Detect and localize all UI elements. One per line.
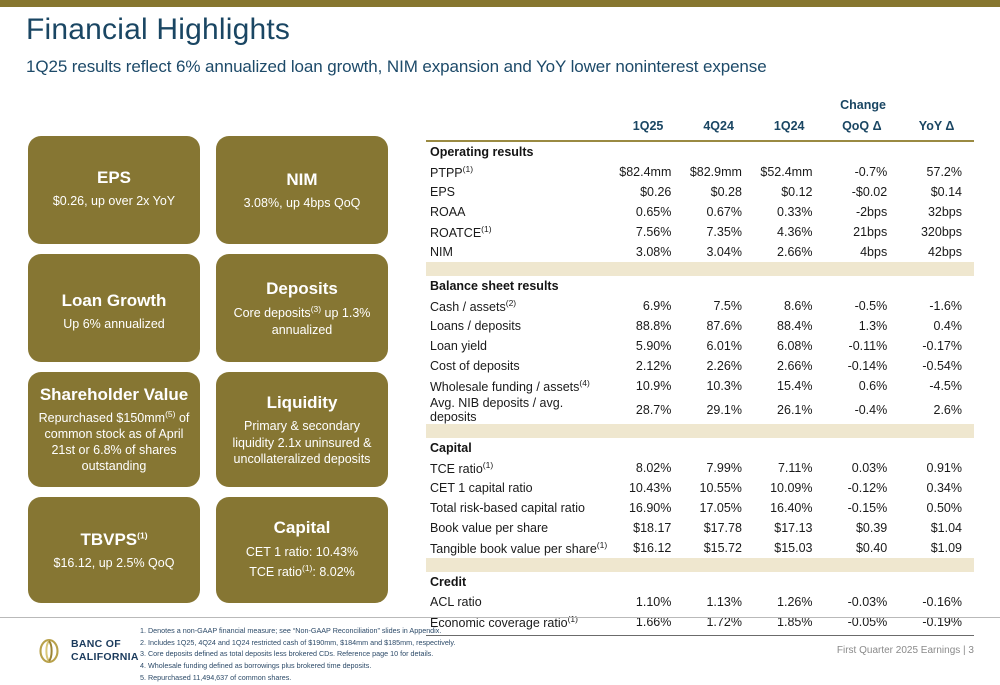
table-section-header: Credit — [426, 572, 974, 592]
card-tbvps-heading: TBVPS(1) — [80, 529, 147, 550]
table-section-header: Balance sheet results — [426, 276, 974, 296]
table-row: Loan yield5.90%6.01%6.08%-0.11%-0.17% — [426, 336, 974, 356]
row-value-1q25: 10.43% — [613, 478, 684, 498]
row-value-qoq: -0.4% — [825, 396, 900, 424]
section-spacer-cell — [683, 438, 754, 458]
change-group-header: Change — [752, 98, 974, 112]
section-spacer-cell — [754, 572, 825, 592]
row-value-4q24: 2.26% — [683, 356, 754, 376]
row-value-1q25: 16.90% — [613, 498, 684, 518]
card-tbvps-footnote-ref: (1) — [137, 530, 147, 540]
row-value-1q24: 4.36% — [754, 222, 825, 242]
table-section-header: Capital — [426, 438, 974, 458]
table-row: Economic coverage ratio(1)1.66%1.72%1.85… — [426, 612, 974, 632]
row-label: ROAA — [426, 202, 613, 222]
row-value-4q24: 1.72% — [683, 612, 754, 632]
row-value-1q24: $17.13 — [754, 518, 825, 538]
card-nim-heading: NIM — [286, 169, 317, 190]
row-value-1q24: $15.03 — [754, 538, 825, 558]
row-label: Book value per share — [426, 518, 613, 538]
row-value-yoy: 57.2% — [899, 162, 974, 182]
row-value-1q25: $18.17 — [613, 518, 684, 538]
section-spacer-cell — [825, 572, 900, 592]
row-value-4q24: $0.28 — [683, 182, 754, 202]
row-value-1q24: 26.1% — [754, 396, 825, 424]
row-value-yoy: $1.09 — [899, 538, 974, 558]
table-row: Loans / deposits88.8%87.6%88.4%1.3%0.4% — [426, 316, 974, 336]
section-spacer-cell — [683, 276, 754, 296]
row-value-1q25: $16.12 — [613, 538, 684, 558]
table-row: Tangible book value per share(1)$16.12$1… — [426, 538, 974, 558]
section-spacer-cell — [899, 141, 974, 162]
row-label-text: NIM — [430, 245, 453, 259]
row-footnote-ref: (1) — [568, 614, 578, 624]
card-capital-line-2: TCE ratio(1): 8.02% — [249, 562, 355, 581]
row-label-text: ACL ratio — [430, 595, 482, 609]
row-value-4q24: 3.04% — [683, 242, 754, 262]
card-deposits-body-pre: Core deposits — [234, 306, 311, 320]
table-row: EPS$0.26$0.28$0.12-$0.02$0.14 — [426, 182, 974, 202]
card-nim[interactable]: NIM 3.08%, up 4bps QoQ — [216, 136, 388, 244]
table-section-band — [426, 424, 974, 438]
row-label-text: Loan yield — [430, 339, 487, 353]
column-header-qoq: QoQ Δ — [825, 116, 900, 136]
row-value-qoq: -$0.02 — [825, 182, 900, 202]
row-label: Avg. NIB deposits / avg. deposits — [426, 396, 613, 424]
row-value-yoy: -1.6% — [899, 296, 974, 316]
section-spacer-cell — [899, 438, 974, 458]
row-label-text: PTPP — [430, 166, 463, 180]
row-label-text: TCE ratio — [430, 462, 483, 476]
table-row: ROATCE(1)7.56%7.35%4.36%21bps320bps — [426, 222, 974, 242]
row-value-qoq: 0.03% — [825, 458, 900, 478]
section-spacer-cell — [825, 141, 900, 162]
metrics-table-body: 1Q254Q241Q24QoQ ΔYoY ΔOperating resultsP… — [426, 116, 974, 636]
section-spacer-cell — [754, 141, 825, 162]
row-value-1q25: $82.4mm — [613, 162, 684, 182]
row-value-4q24: 17.05% — [683, 498, 754, 518]
row-value-1q24: 2.66% — [754, 242, 825, 262]
card-tbvps-body: $16.12, up 2.5% QoQ — [54, 555, 175, 571]
row-label: Loans / deposits — [426, 316, 613, 336]
table-row: Book value per share$18.17$17.78$17.13$0… — [426, 518, 974, 538]
card-row-4: TBVPS(1) $16.12, up 2.5% QoQ Capital CET… — [28, 497, 390, 603]
row-value-qoq: -0.03% — [825, 592, 900, 612]
row-value-yoy: 320bps — [899, 222, 974, 242]
row-value-1q25: 5.90% — [613, 336, 684, 356]
row-value-yoy: -0.54% — [899, 356, 974, 376]
table-row: TCE ratio(1)8.02%7.99%7.11%0.03%0.91% — [426, 458, 974, 478]
table-row: Cash / assets(2)6.9%7.5%8.6%-0.5%-1.6% — [426, 296, 974, 316]
row-value-yoy: 0.50% — [899, 498, 974, 518]
row-value-yoy: $1.04 — [899, 518, 974, 538]
card-liquidity[interactable]: Liquidity Primary & secondary liquidity … — [216, 372, 388, 487]
table-row: Avg. NIB deposits / avg. deposits28.7%29… — [426, 396, 974, 424]
row-value-1q25: 2.12% — [613, 356, 684, 376]
footnote-1: 1. Denotes a non-GAAP financial measure;… — [140, 625, 455, 637]
table-row: NIM3.08%3.04%2.66%4bps42bps — [426, 242, 974, 262]
row-label: Total risk-based capital ratio — [426, 498, 613, 518]
section-spacer-cell — [825, 438, 900, 458]
row-value-yoy: 0.4% — [899, 316, 974, 336]
card-row-3: Shareholder Value Repurchased $150mm(5) … — [28, 372, 390, 487]
row-value-qoq: -0.14% — [825, 356, 900, 376]
card-tbvps-heading-text: TBVPS — [80, 530, 137, 549]
top-accent-bar — [0, 0, 1000, 7]
card-capital[interactable]: Capital CET 1 ratio: 10.43% TCE ratio(1)… — [216, 497, 388, 603]
card-liquidity-heading: Liquidity — [267, 392, 338, 413]
row-value-1q25: 7.56% — [613, 222, 684, 242]
row-footnote-ref: (4) — [579, 378, 589, 388]
row-value-1q24: 15.4% — [754, 376, 825, 396]
row-value-yoy: 0.34% — [899, 478, 974, 498]
row-value-qoq: -0.05% — [825, 612, 900, 632]
section-spacer-cell — [613, 572, 684, 592]
row-value-qoq: -0.11% — [825, 336, 900, 356]
row-value-qoq: $0.39 — [825, 518, 900, 538]
card-eps[interactable]: EPS $0.26, up over 2x YoY — [28, 136, 200, 244]
row-value-1q24: 8.6% — [754, 296, 825, 316]
page-subtitle: 1Q25 results reflect 6% annualized loan … — [26, 57, 767, 77]
card-row-2: Loan Growth Up 6% annualized Deposits Co… — [28, 254, 390, 362]
row-value-qoq: $0.40 — [825, 538, 900, 558]
section-spacer-cell — [683, 141, 754, 162]
row-label-text: Cash / assets — [430, 300, 506, 314]
row-value-qoq: -0.15% — [825, 498, 900, 518]
row-value-1q24: $0.12 — [754, 182, 825, 202]
section-spacer-cell — [754, 438, 825, 458]
row-label: ROATCE(1) — [426, 222, 613, 242]
row-label-text: Wholesale funding / assets — [430, 380, 579, 394]
card-row-1: EPS $0.26, up over 2x YoY NIM 3.08%, up … — [28, 136, 390, 244]
card-capital-heading: Capital — [274, 517, 331, 538]
row-label: Tangible book value per share(1) — [426, 538, 613, 558]
card-shareholder-value[interactable]: Shareholder Value Repurchased $150mm(5) … — [28, 372, 200, 487]
card-liquidity-body: Primary & secondary liquidity 2.1x unins… — [225, 418, 379, 467]
row-value-1q24: 1.85% — [754, 612, 825, 632]
row-footnote-ref: (1) — [483, 460, 493, 470]
row-value-qoq: 21bps — [825, 222, 900, 242]
row-label: Wholesale funding / assets(4) — [426, 376, 613, 396]
row-label-text: Loans / deposits — [430, 319, 521, 333]
banc-of-california-ring-icon — [36, 638, 62, 664]
row-value-1q25: 28.7% — [613, 396, 684, 424]
row-label-text: CET 1 capital ratio — [430, 481, 533, 495]
section-spacer-cell — [683, 572, 754, 592]
row-label: Loan yield — [426, 336, 613, 356]
card-nim-body: 3.08%, up 4bps QoQ — [244, 195, 361, 211]
section-title-credit: Credit — [426, 572, 613, 592]
row-value-4q24: 87.6% — [683, 316, 754, 336]
card-shareholder-value-body-pre: Repurchased $150mm — [39, 411, 165, 425]
row-value-4q24: $15.72 — [683, 538, 754, 558]
column-header-blank — [426, 116, 613, 136]
card-loan-growth-body: Up 6% annualized — [63, 316, 164, 332]
row-value-1q24: 7.11% — [754, 458, 825, 478]
table-row: PTPP(1)$82.4mm$82.9mm$52.4mm-0.7%57.2% — [426, 162, 974, 182]
row-value-yoy: 0.91% — [899, 458, 974, 478]
row-value-4q24: 29.1% — [683, 396, 754, 424]
card-loan-growth-heading: Loan Growth — [62, 290, 167, 311]
section-spacer-cell — [825, 276, 900, 296]
table-row: ROAA0.65%0.67%0.33%-2bps32bps — [426, 202, 974, 222]
row-value-4q24: 6.01% — [683, 336, 754, 356]
card-capital-line-1: CET 1 ratio: 10.43% — [246, 543, 358, 561]
row-value-1q25: 88.8% — [613, 316, 684, 336]
row-value-1q25: 6.9% — [613, 296, 684, 316]
row-label-text: Tangible book value per share — [430, 542, 597, 556]
card-deposits-heading: Deposits — [266, 278, 338, 299]
row-value-4q24: 10.55% — [683, 478, 754, 498]
row-value-yoy: $0.14 — [899, 182, 974, 202]
footnote-3: 3. Core deposits defined as total deposi… — [140, 648, 455, 660]
table-section-band — [426, 262, 974, 276]
row-label-text: Total risk-based capital ratio — [430, 501, 585, 515]
card-capital-line-2-pre: TCE ratio — [249, 565, 302, 579]
section-title-operating-results: Operating results — [426, 141, 613, 162]
row-value-4q24: $82.9mm — [683, 162, 754, 182]
row-value-1q25: 8.02% — [613, 458, 684, 478]
row-label-text: Avg. NIB deposits / avg. deposits — [430, 396, 563, 424]
card-capital-footnote-ref: (1) — [302, 563, 312, 573]
footnote-5: 5. Repurchased 11,494,637 of common shar… — [140, 672, 455, 684]
section-spacer-cell — [613, 141, 684, 162]
footnote-4: 4. Wholesale funding defined as borrowin… — [140, 660, 455, 672]
section-spacer-cell — [613, 438, 684, 458]
row-label: CET 1 capital ratio — [426, 478, 613, 498]
row-value-1q25: 10.9% — [613, 376, 684, 396]
row-label-text: Cost of deposits — [430, 359, 520, 373]
footnotes: 1. Denotes a non-GAAP financial measure;… — [140, 625, 455, 683]
row-value-1q24: 1.26% — [754, 592, 825, 612]
row-value-4q24: 10.3% — [683, 376, 754, 396]
row-value-1q24: 2.66% — [754, 356, 825, 376]
table-row: ACL ratio1.10%1.13%1.26%-0.03%-0.16% — [426, 592, 974, 612]
financial-metrics-table: Change 1Q254Q241Q24QoQ ΔYoY ΔOperating r… — [426, 98, 974, 636]
row-value-1q24: 0.33% — [754, 202, 825, 222]
row-value-qoq: -0.12% — [825, 478, 900, 498]
section-spacer-cell — [899, 572, 974, 592]
row-value-yoy: 32bps — [899, 202, 974, 222]
footer-divider — [0, 617, 1000, 618]
page-title: Financial Highlights — [26, 13, 290, 47]
card-eps-heading: EPS — [97, 167, 131, 188]
row-label: Cost of deposits — [426, 356, 613, 376]
row-value-qoq: -0.5% — [825, 296, 900, 316]
card-deposits[interactable]: Deposits Core deposits(3) up 1.3% annual… — [216, 254, 388, 362]
row-label: Cash / assets(2) — [426, 296, 613, 316]
card-shareholder-value-footnote-ref: (5) — [165, 409, 175, 419]
row-value-4q24: 7.35% — [683, 222, 754, 242]
row-value-1q24: 10.09% — [754, 478, 825, 498]
section-spacer-cell — [754, 276, 825, 296]
row-value-yoy: 42bps — [899, 242, 974, 262]
column-header-1q25: 1Q25 — [613, 116, 684, 136]
row-label-text: ROATCE — [430, 226, 481, 240]
section-title-capital: Capital — [426, 438, 613, 458]
row-footnote-ref: (1) — [597, 540, 607, 550]
page-footer-label: First Quarter 2025 Earnings | 3 — [837, 645, 974, 656]
card-tbvps[interactable]: TBVPS(1) $16.12, up 2.5% QoQ — [28, 497, 200, 603]
row-value-4q24: 0.67% — [683, 202, 754, 222]
row-value-1q25: 3.08% — [613, 242, 684, 262]
brand-name-line-1: BANC OF — [71, 638, 139, 651]
row-value-yoy: -0.16% — [899, 592, 974, 612]
row-value-1q25: 1.66% — [613, 612, 684, 632]
metrics-table: 1Q254Q241Q24QoQ ΔYoY ΔOperating resultsP… — [426, 116, 974, 636]
card-shareholder-value-heading: Shareholder Value — [40, 384, 188, 405]
table-row: Wholesale funding / assets(4)10.9%10.3%1… — [426, 376, 974, 396]
row-label-text: ROAA — [430, 205, 465, 219]
row-value-qoq: 1.3% — [825, 316, 900, 336]
table-bottom-rule — [426, 632, 974, 636]
row-footnote-ref: (1) — [463, 164, 473, 174]
row-label: EPS — [426, 182, 613, 202]
card-deposits-body: Core deposits(3) up 1.3% annualized — [225, 304, 379, 338]
row-value-1q24: 88.4% — [754, 316, 825, 336]
table-header-row: 1Q254Q241Q24QoQ ΔYoY Δ — [426, 116, 974, 136]
row-label: TCE ratio(1) — [426, 458, 613, 478]
row-value-1q24: 6.08% — [754, 336, 825, 356]
table-row: Cost of deposits2.12%2.26%2.66%-0.14%-0.… — [426, 356, 974, 376]
row-label-text: EPS — [430, 185, 455, 199]
column-header-yoy: YoY Δ — [899, 116, 974, 136]
table-section-band — [426, 558, 974, 572]
row-label: ACL ratio — [426, 592, 613, 612]
row-value-1q24: 16.40% — [754, 498, 825, 518]
section-title-balance-sheet-results: Balance sheet results — [426, 276, 613, 296]
section-spacer-cell — [613, 276, 684, 296]
row-value-yoy: -0.17% — [899, 336, 974, 356]
row-label: NIM — [426, 242, 613, 262]
row-value-1q25: 0.65% — [613, 202, 684, 222]
footnote-2: 2. Includes 1Q25, 4Q24 and 1Q24 restrict… — [140, 637, 455, 649]
brand-name-line-2: CALIFORNIA — [71, 651, 139, 664]
row-value-qoq: -2bps — [825, 202, 900, 222]
table-row: Total risk-based capital ratio16.90%17.0… — [426, 498, 974, 518]
row-value-yoy: 2.6% — [899, 396, 974, 424]
row-label-text: Book value per share — [430, 521, 548, 535]
row-value-qoq: 4bps — [825, 242, 900, 262]
row-value-4q24: 1.13% — [683, 592, 754, 612]
brand-logo: BANC OF CALIFORNIA — [36, 638, 139, 664]
row-value-1q25: $0.26 — [613, 182, 684, 202]
row-value-4q24: $17.78 — [683, 518, 754, 538]
card-capital-line-2-post: : 8.02% — [312, 565, 354, 579]
row-value-4q24: 7.5% — [683, 296, 754, 316]
row-value-4q24: 7.99% — [683, 458, 754, 478]
card-loan-growth[interactable]: Loan Growth Up 6% annualized — [28, 254, 200, 362]
row-value-qoq: 0.6% — [825, 376, 900, 396]
row-footnote-ref: (1) — [481, 224, 491, 234]
table-row: CET 1 capital ratio10.43%10.55%10.09%-0.… — [426, 478, 974, 498]
section-spacer-cell — [899, 276, 974, 296]
card-shareholder-value-body: Repurchased $150mm(5) of common stock as… — [37, 409, 191, 475]
card-eps-body: $0.26, up over 2x YoY — [53, 193, 175, 209]
row-value-yoy: -0.19% — [899, 612, 974, 632]
row-value-1q25: 1.10% — [613, 592, 684, 612]
row-label: PTPP(1) — [426, 162, 613, 182]
row-value-1q24: $52.4mm — [754, 162, 825, 182]
column-header-4q24: 4Q24 — [683, 116, 754, 136]
card-deposits-footnote-ref: (3) — [311, 304, 321, 314]
brand-name: BANC OF CALIFORNIA — [71, 638, 139, 664]
row-value-qoq: -0.7% — [825, 162, 900, 182]
row-value-yoy: -4.5% — [899, 376, 974, 396]
table-section-header: Operating results — [426, 141, 974, 162]
column-header-1q24: 1Q24 — [754, 116, 825, 136]
row-footnote-ref: (2) — [506, 298, 516, 308]
highlight-cards: EPS $0.26, up over 2x YoY NIM 3.08%, up … — [28, 136, 390, 613]
